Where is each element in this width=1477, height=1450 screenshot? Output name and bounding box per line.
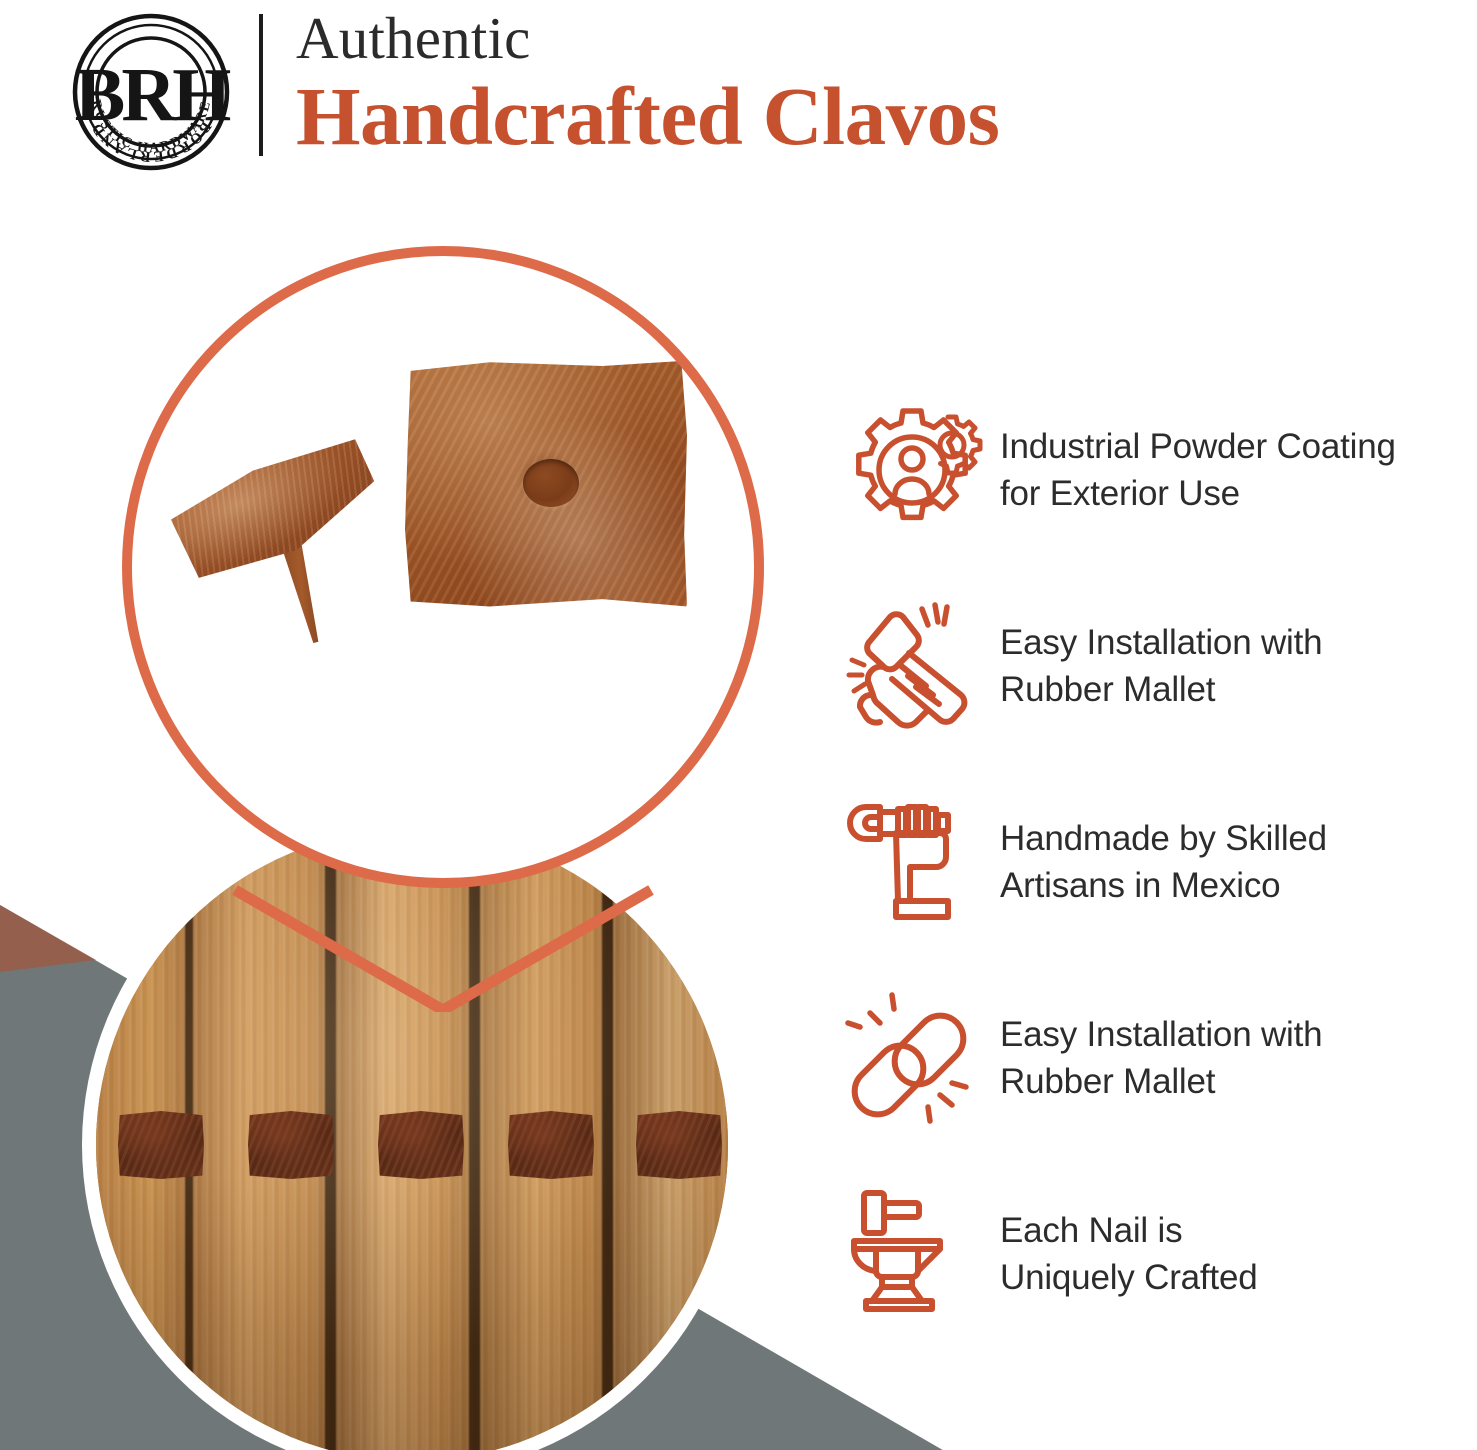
- logo-monogram: BRH: [75, 53, 231, 137]
- gear-person-icon: [840, 395, 990, 545]
- feature-list: Industrial Powder Coating for Exterior U…: [840, 372, 1477, 1352]
- infographic-page: BORDERLAND RUSTIC HARDWARE BRH Authentic…: [0, 0, 1477, 1450]
- installed-clavo: [378, 1111, 464, 1179]
- header-divider: [259, 14, 263, 156]
- installed-clavo: [248, 1111, 334, 1179]
- feature-label: Handmade by Skilled Artisans in Mexico: [990, 815, 1477, 909]
- title-line-authentic: Authentic: [296, 4, 1456, 72]
- feature-row: Handmade by Skilled Artisans in Mexico: [840, 764, 1477, 960]
- title-line-handcrafted-clavos: Handcrafted Clavos: [296, 70, 1456, 162]
- page-title: Authentic Handcrafted Clavos: [296, 4, 1456, 162]
- header: BORDERLAND RUSTIC HARDWARE BRH Authentic…: [0, 0, 1477, 200]
- hand-mallet-icon: [840, 591, 990, 741]
- chain-link-icon: [840, 983, 990, 1133]
- feature-label: Each Nail is Uniquely Crafted: [990, 1207, 1477, 1301]
- pin-marker-outline: [118, 242, 768, 1012]
- installed-clavo-row: [96, 1111, 728, 1201]
- feature-row: Easy Installation with Rubber Mallet: [840, 568, 1477, 764]
- hand-wrench-icon: [840, 787, 990, 937]
- feature-row: Each Nail is Uniquely Crafted: [840, 1156, 1477, 1352]
- installed-clavo: [508, 1111, 594, 1179]
- anvil-hammer-icon: [840, 1179, 990, 1329]
- feature-row: Easy Installation with Rubber Mallet: [840, 960, 1477, 1156]
- feature-row: Industrial Powder Coating for Exterior U…: [840, 372, 1477, 568]
- feature-label: Easy Installation with Rubber Mallet: [990, 619, 1477, 713]
- feature-label: Industrial Powder Coating for Exterior U…: [990, 423, 1477, 517]
- installed-clavo: [118, 1111, 204, 1179]
- feature-label: Easy Installation with Rubber Mallet: [990, 1011, 1477, 1105]
- installed-clavo: [636, 1111, 722, 1179]
- product-visuals: [0, 200, 830, 1450]
- brand-logo-seal: BORDERLAND RUSTIC HARDWARE BRH: [58, 12, 244, 172]
